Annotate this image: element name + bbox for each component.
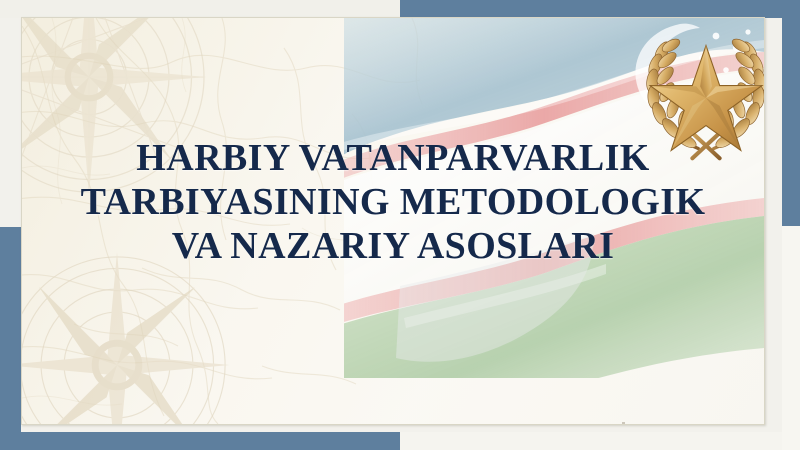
compass-rose-watermark-lower xyxy=(21,250,232,425)
page-title: HARBIY VATANPARVARLIK TARBIYASINING METO… xyxy=(22,136,764,268)
top-left-plate xyxy=(0,0,400,18)
title-line-3: VA NAZARIY ASOSLARI xyxy=(22,224,764,268)
top-blue-band xyxy=(400,0,800,18)
title-line-2: TARBIYASINING METODOLOGIK xyxy=(22,180,764,224)
bottom-blue-band xyxy=(0,432,400,450)
right-blue-band xyxy=(782,0,800,226)
slide-content-card: HARBIY VATANPARVARLIK TARBIYASINING METO… xyxy=(21,17,765,425)
presentation-slide: HARBIY VATANPARVARLIK TARBIYASINING METO… xyxy=(0,0,800,450)
right-bottom-plate xyxy=(782,226,800,450)
left-blue-band xyxy=(0,227,21,450)
paper-speck xyxy=(622,422,625,424)
bottom-right-plate xyxy=(400,432,800,450)
title-line-1: HARBIY VATANPARVARLIK xyxy=(22,136,764,180)
